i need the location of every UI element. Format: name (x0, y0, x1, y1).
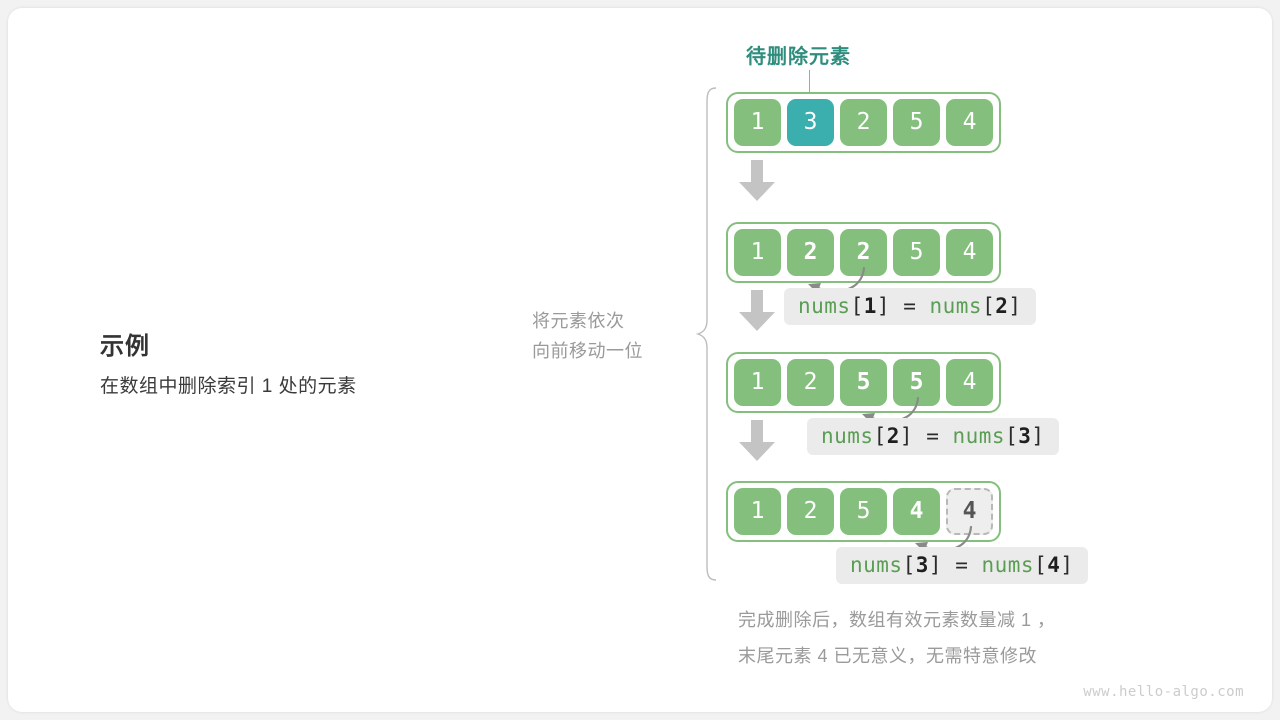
array-cell: 4 (946, 359, 993, 406)
array-cell: 5 (840, 488, 887, 535)
code-index: 1 (864, 294, 877, 318)
array-cell: 4 (946, 99, 993, 146)
code-bracket: [ (874, 424, 887, 448)
code-bracket: [ (1034, 553, 1047, 577)
code-bracket: ] (877, 294, 890, 318)
down-arrow-icon (738, 290, 776, 332)
code-label-step-2: nums[2] = nums[3] (807, 418, 1059, 455)
result-note-line-2: 末尾元素 4 已无意义，无需特意修改 (738, 638, 1056, 674)
code-ident: nums (981, 553, 1034, 577)
code-bracket: [ (851, 294, 864, 318)
code-ident: nums (798, 294, 851, 318)
result-note-line-1: 完成删除后，数组有效元素数量减 1 ， (738, 602, 1056, 638)
example-caption: 示例 在数组中删除索引 1 处的元素 (100, 330, 500, 402)
array-cell: 2 (787, 488, 834, 535)
array-cell: 5 (893, 229, 940, 276)
example-title: 示例 (100, 330, 500, 364)
array-cell: 5 (893, 99, 940, 146)
watermark: www.hello-algo.com (1083, 684, 1244, 700)
array-cell-highlighted: 3 (787, 99, 834, 146)
code-index: 4 (1047, 553, 1060, 577)
code-ident: nums (929, 294, 982, 318)
code-label-step-1: nums[1] = nums[2] (784, 288, 1036, 325)
code-operator: = (890, 294, 929, 318)
code-bracket: [ (903, 553, 916, 577)
shift-note-line-1: 将元素依次 (532, 306, 682, 336)
code-ident: nums (850, 553, 903, 577)
code-operator: = (913, 424, 952, 448)
code-bracket: [ (982, 294, 995, 318)
array-cell: 2 (787, 359, 834, 406)
code-bracket: ] (929, 553, 942, 577)
example-subtitle: 在数组中删除索引 1 处的元素 (100, 372, 500, 402)
code-index: 3 (916, 553, 929, 577)
shift-note-line-2: 向前移动一位 (532, 336, 682, 366)
screenshot-canvas: 待删除元素 示例 在数组中删除索引 1 处的元素 将元素依次 向前移动一位 1 … (0, 0, 1280, 720)
shift-note: 将元素依次 向前移动一位 (532, 306, 682, 366)
down-arrow-icon (738, 420, 776, 462)
code-bracket: ] (1060, 553, 1073, 577)
delete-target-label: 待删除元素 (746, 40, 851, 69)
code-index: 2 (995, 294, 1008, 318)
array-row-initial: 1 3 2 5 4 (726, 92, 1001, 153)
diagram-card: 待删除元素 示例 在数组中删除索引 1 处的元素 将元素依次 向前移动一位 1 … (8, 8, 1272, 712)
code-bracket: ] (1031, 424, 1044, 448)
array-cell: 1 (734, 99, 781, 146)
code-index: 2 (887, 424, 900, 448)
code-bracket: ] (900, 424, 913, 448)
array-cell: 1 (734, 488, 781, 535)
code-ident: nums (821, 424, 874, 448)
code-label-step-3: nums[3] = nums[4] (836, 547, 1088, 584)
array-cell: 1 (734, 229, 781, 276)
down-arrow-icon (738, 160, 776, 202)
grouping-brace (696, 86, 718, 582)
code-bracket: [ (1005, 424, 1018, 448)
code-ident: nums (952, 424, 1005, 448)
result-note: 完成删除后，数组有效元素数量减 1 ， 末尾元素 4 已无意义，无需特意修改 (738, 602, 1056, 674)
array-cell: 1 (734, 359, 781, 406)
array-cell: 2 (840, 99, 887, 146)
code-index: 3 (1018, 424, 1031, 448)
array-cell: 4 (946, 229, 993, 276)
code-operator: = (942, 553, 981, 577)
code-bracket: ] (1008, 294, 1021, 318)
